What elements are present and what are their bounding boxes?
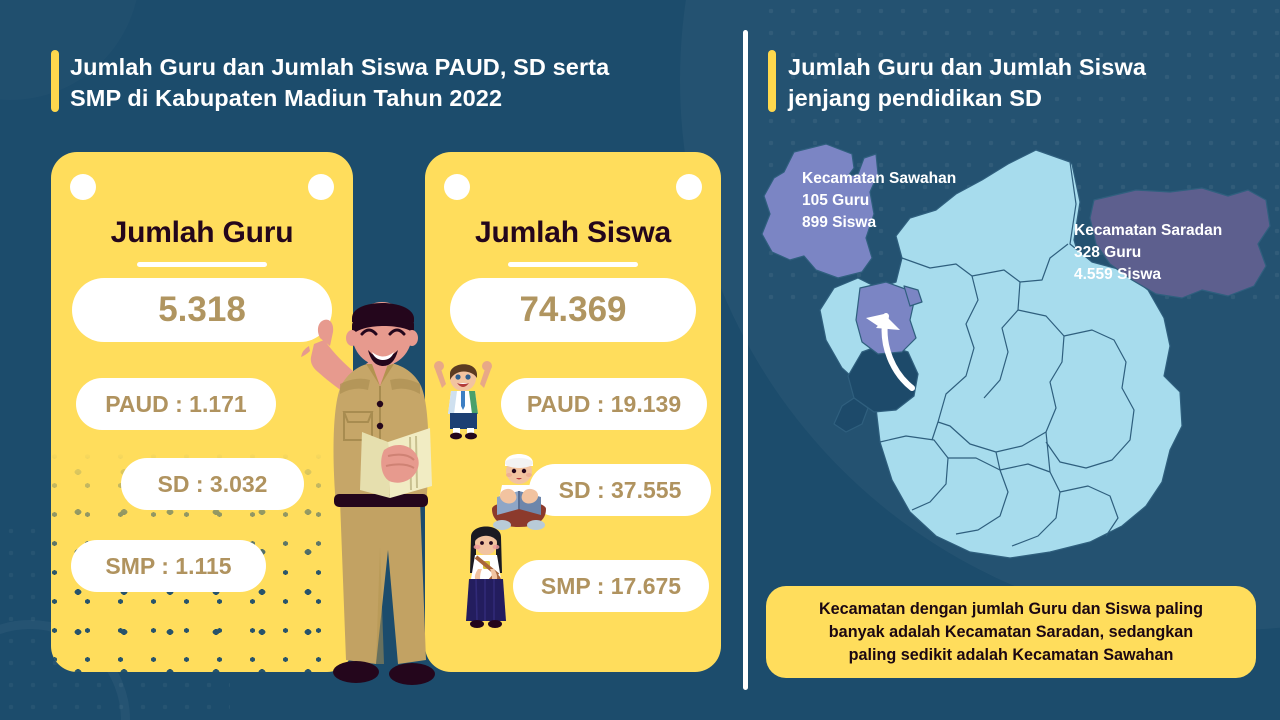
row-pill-guru-sd: SD : 3.032: [121, 458, 304, 510]
footer-note-line-2: banyak adalah Kecamatan Saradan, sedangk…: [819, 621, 1203, 644]
punch-hole-left-siswa: [444, 174, 470, 200]
map-label-saradan-name: Kecamatan Saradan: [1074, 220, 1222, 242]
right-panel: Jumlah Guru dan Jumlah Siswa jenjang pen…: [744, 0, 1280, 720]
right-title-line-2: jenjang pendidikan SD: [788, 83, 1268, 114]
map-label-saradan-teachers: 328 Guru: [1074, 242, 1222, 264]
right-title-line-1: Jumlah Guru dan Jumlah Siswa: [788, 52, 1268, 83]
row-pill-siswa-sd: SD : 37.555: [529, 464, 711, 516]
punch-hole-right-guru: [308, 174, 334, 200]
left-title-line-1: Jumlah Guru dan Jumlah Siswa PAUD, SD se…: [70, 52, 730, 83]
card-heading-siswa: Jumlah Siswa: [425, 216, 721, 250]
card-heading-guru: Jumlah Guru: [51, 216, 353, 250]
right-title-accent-bar: [768, 50, 776, 112]
student-boy-illustration: [432, 358, 494, 440]
map-label-sawahan-teachers: 105 Guru: [802, 190, 956, 212]
map-label-saradan-students: 4.559 Siswa: [1074, 264, 1222, 286]
right-section-title: Jumlah Guru dan Jumlah Siswa jenjang pen…: [788, 52, 1268, 115]
card-underline-guru: [137, 262, 267, 267]
map-label-sawahan-students: 899 Siswa: [802, 212, 956, 234]
card-underline-siswa: [508, 262, 638, 267]
map-label-sawahan-name: Kecamatan Sawahan: [802, 168, 956, 190]
row-pill-guru-paud: PAUD : 1.171: [76, 378, 276, 430]
footer-note-line-1: Kecamatan dengan jumlah Guru dan Siswa p…: [819, 598, 1203, 621]
left-title-accent-bar: [51, 50, 59, 112]
student-girl-illustration: [458, 521, 514, 633]
row-pill-siswa-smp: SMP : 17.675: [513, 560, 709, 612]
left-panel: Jumlah Guru dan Jumlah Siswa PAUD, SD se…: [0, 0, 744, 720]
footer-note-line-3: paling sedikit adalah Kecamatan Sawahan: [819, 644, 1203, 667]
map-summary-note: Kecamatan dengan jumlah Guru dan Siswa p…: [766, 586, 1256, 678]
map-label-sawahan: Kecamatan Sawahan 105 Guru 899 Siswa: [802, 168, 956, 234]
map-label-saradan: Kecamatan Saradan 328 Guru 4.559 Siswa: [1074, 220, 1222, 286]
left-section-title: Jumlah Guru dan Jumlah Siswa PAUD, SD se…: [70, 52, 730, 115]
total-pill-siswa: 74.369: [450, 278, 696, 342]
row-pill-siswa-paud: PAUD : 19.139: [501, 378, 707, 430]
punch-hole-left-guru: [70, 174, 96, 200]
left-title-line-2: SMP di Kabupaten Madiun Tahun 2022: [70, 83, 730, 114]
punch-hole-right-siswa: [676, 174, 702, 200]
row-pill-guru-smp: SMP : 1.115: [71, 540, 266, 592]
